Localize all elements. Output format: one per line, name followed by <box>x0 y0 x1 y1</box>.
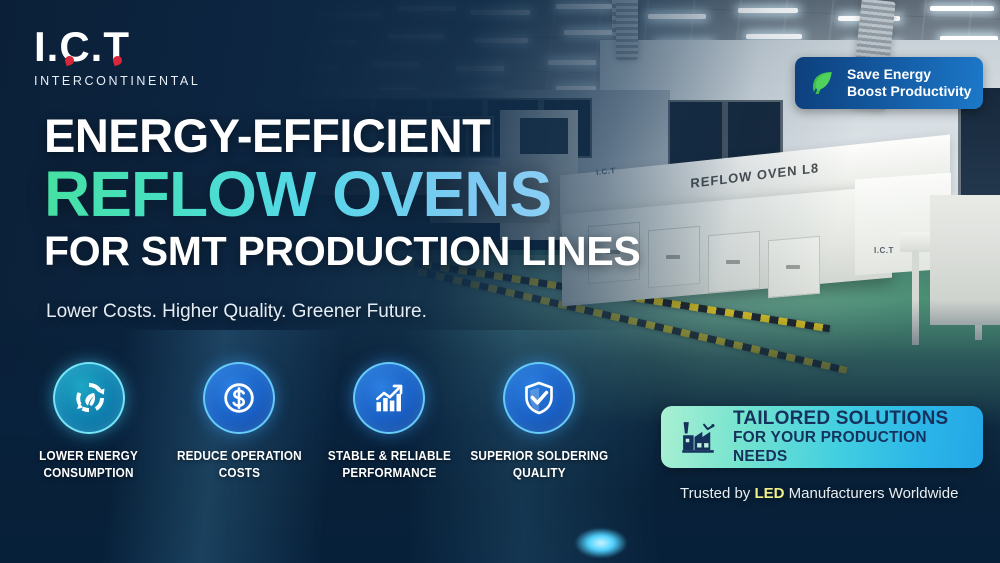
marketing-banner: REFLOW OVEN L8 I.C.T I.C.T I.C.T INTERCO… <box>0 0 1000 563</box>
feature-item-soldering-quality[interactable]: SUPERIOR SOLDERING QUALITY <box>464 362 614 482</box>
headline-block: ENERGY-EFFICIENT REFLOW OVENS FOR SMT PR… <box>44 112 664 273</box>
shield-check-icon <box>503 362 575 434</box>
feature-label-line-2: COSTS <box>177 465 302 482</box>
headline-line-1: ENERGY-EFFICIENT <box>44 112 664 160</box>
cta-line-2: FOR YOUR PRODUCTION NEEDS <box>733 429 983 466</box>
energy-recycle-icon <box>53 362 125 434</box>
feature-label-line-1: REDUCE OPERATION <box>177 448 302 465</box>
feature-label: STABLE & RELIABLE PERFORMANCE <box>327 448 450 482</box>
brand-logo[interactable]: I.C.T INTERCONTINENTAL <box>34 26 200 88</box>
tailored-solutions-cta[interactable]: TAILORED SOLUTIONS FOR YOUR PRODUCTION N… <box>661 406 983 468</box>
leaf-icon <box>806 67 838 99</box>
feature-label-line-2: QUALITY <box>470 465 608 482</box>
badge-line-1: Save Energy <box>847 66 971 84</box>
feature-item-lower-energy[interactable]: LOWER ENERGY CONSUMPTION <box>14 362 164 482</box>
factory-icon <box>677 416 719 458</box>
trusted-by-line: Trusted by LED Manufacturers Worldwide <box>680 485 958 502</box>
feature-item-reduce-costs[interactable]: REDUCE OPERATION COSTS <box>164 362 314 482</box>
save-energy-badge[interactable]: Save Energy Boost Productivity <box>795 57 983 109</box>
cta-text-block: TAILORED SOLUTIONS FOR YOUR PRODUCTION N… <box>733 408 983 466</box>
logo-tagline: INTERCONTINENTAL <box>34 74 200 88</box>
feature-label-line-2: CONSUMPTION <box>40 465 139 482</box>
cta-line-1: TAILORED SOLUTIONS <box>733 408 983 429</box>
save-energy-badge-text: Save Energy Boost Productivity <box>847 66 971 101</box>
trusted-prefix: Trusted by <box>680 485 754 502</box>
feature-label-line-2: PERFORMANCE <box>327 465 450 482</box>
trusted-highlight: LED <box>754 485 784 502</box>
headline-line-2: REFLOW OVENS <box>44 162 664 227</box>
subheading: Lower Costs. Higher Quality. Greener Fut… <box>46 301 427 323</box>
feature-label-line-1: STABLE & RELIABLE <box>327 448 450 465</box>
feature-label: LOWER ENERGY CONSUMPTION <box>40 448 139 482</box>
headline-line-3: FOR SMT PRODUCTION LINES <box>44 230 664 273</box>
feature-label-line-1: LOWER ENERGY <box>40 448 139 465</box>
feature-label-line-1: SUPERIOR SOLDERING <box>470 448 608 465</box>
light-flare <box>575 528 627 558</box>
bar-chart-growth-icon <box>353 362 425 434</box>
feature-label: REDUCE OPERATION COSTS <box>177 448 302 482</box>
feature-item-stable-performance[interactable]: STABLE & RELIABLE PERFORMANCE <box>314 362 464 482</box>
feature-label: SUPERIOR SOLDERING QUALITY <box>470 448 608 482</box>
trusted-suffix: Manufacturers Worldwide <box>784 485 958 502</box>
badge-line-2: Boost Productivity <box>847 83 971 101</box>
feature-list: LOWER ENERGY CONSUMPTION REDUCE OPERATIO… <box>14 362 614 482</box>
dollar-coin-icon <box>203 362 275 434</box>
